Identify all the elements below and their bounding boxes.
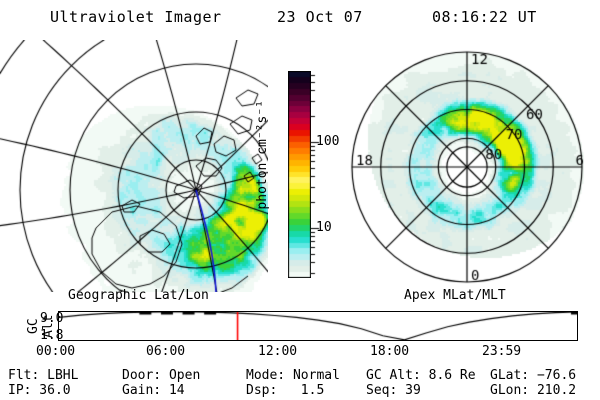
colorbar (288, 71, 311, 278)
status-ip: IP: 36.0 (8, 383, 71, 398)
orbit-xtick-1: 06:00 (146, 344, 185, 359)
colorbar-ticks (311, 71, 321, 278)
status-mode: Mode: Normal (246, 368, 340, 383)
observation-date: 23 Oct 07 (277, 8, 363, 26)
status-glat: GLat: −76.6 (490, 368, 576, 383)
status-dsp: Dsp: 1.5 (246, 383, 324, 398)
page-title: Ultraviolet Imager (50, 8, 222, 26)
geographic-caption: Geographic Lat/Lon (68, 288, 209, 303)
apex-caption: Apex MLat/MLT (404, 288, 506, 303)
geographic-image-canvas (0, 40, 268, 292)
status-flt: Flt: LBHL (8, 368, 78, 383)
orbit-xtick-4: 23:59 (482, 344, 521, 359)
colorbar-axis-label: photon cm⁻²s⁻¹ (255, 100, 275, 210)
geographic-polar-plot[interactable] (0, 40, 268, 292)
status-glon: GLon: 210.2 (490, 383, 576, 398)
orbit-xtick-0: 00:00 (36, 344, 75, 359)
orbit-trace-canvas (59, 312, 577, 340)
status-gain: Gain: 14 (122, 383, 185, 398)
status-door: Door: Open (122, 368, 200, 383)
status-seq: Seq: 39 (366, 383, 421, 398)
status-gc-alt: GC Alt: 8.6 Re (366, 368, 476, 383)
orbit-xtick-3: 18:00 (370, 344, 409, 359)
apex-image-canvas (334, 40, 600, 292)
orbit-altitude-plot[interactable] (58, 311, 578, 341)
orbit-xtick-2: 12:00 (258, 344, 297, 359)
observation-time: 08:16:22 UT (432, 8, 537, 26)
apex-polar-plot[interactable] (334, 40, 600, 292)
